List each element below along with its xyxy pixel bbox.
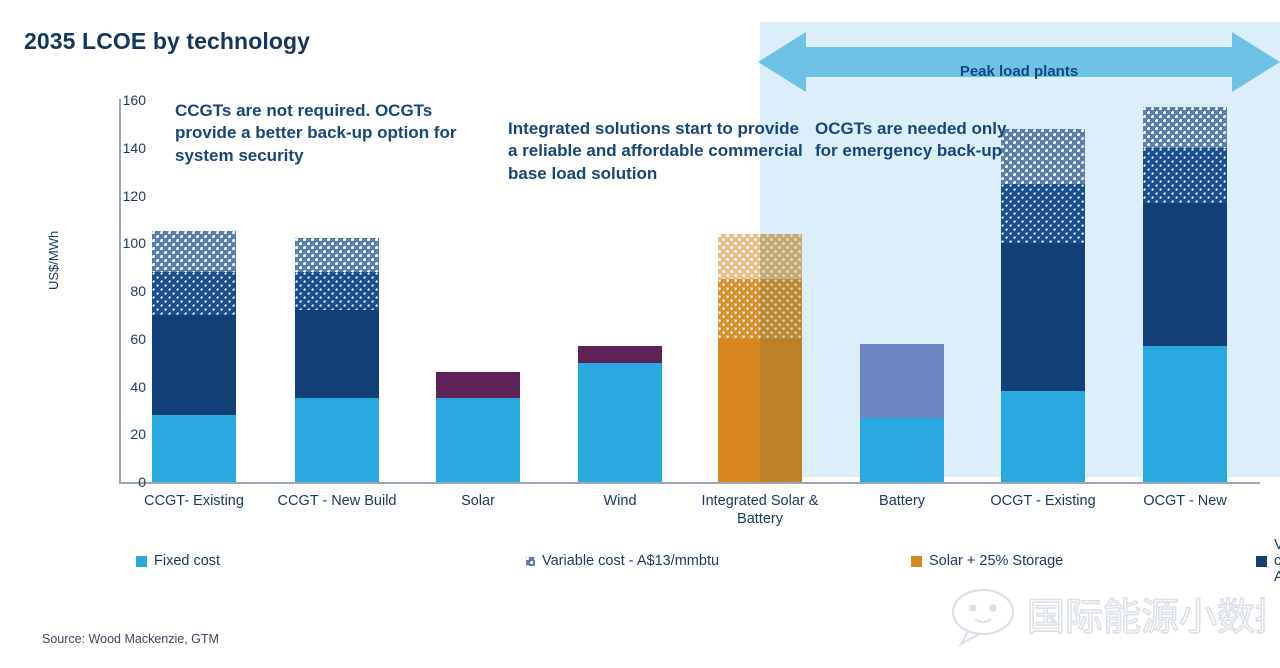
bar-segment <box>718 339 802 482</box>
bar-segment-shading <box>760 339 802 482</box>
x-category-label: Solar <box>403 492 553 510</box>
legend-label: Variable cost - A$7/mmbtu <box>1274 537 1280 585</box>
x-category-label: CCGT- Existing <box>119 492 269 510</box>
legend-label: Variable cost - A$13/mmbtu <box>542 553 719 569</box>
bar-segment <box>718 279 802 339</box>
annotation-ocgt: OCGTs are needed only for emergency back… <box>815 118 1025 163</box>
bar-segment <box>1001 243 1085 391</box>
stacked-bar[interactable] <box>152 231 236 482</box>
annotation-integrated: Integrated solutions start to provide a … <box>508 118 808 185</box>
watermark-logo: 国际能源小数据 <box>935 578 1265 648</box>
bar-segment <box>1001 184 1085 244</box>
bar-segment <box>436 398 520 482</box>
legend-swatch-icon <box>911 556 922 567</box>
bar-segment <box>718 234 802 279</box>
bar-segment <box>860 418 944 482</box>
bar-segment <box>578 346 662 363</box>
source-note: Source: Wood Mackenzie, GTM <box>42 632 219 646</box>
bar-segment <box>578 363 662 482</box>
bar-segment <box>295 272 379 310</box>
stacked-bar[interactable] <box>436 372 520 482</box>
legend-swatch-icon <box>136 556 147 567</box>
bar-segment <box>152 315 236 415</box>
legend-item[interactable]: Fixed cost <box>136 548 526 574</box>
x-category-label: Wind <box>545 492 695 510</box>
legend-item[interactable]: Variable cost - A$7/mmbtu <box>1256 548 1280 574</box>
bar-segment <box>1143 203 1227 346</box>
bar-segment <box>295 238 379 271</box>
legend-label: Fixed cost <box>154 553 220 569</box>
legend-item[interactable]: Solar + 25% Storage <box>911 548 1256 574</box>
x-category-label: OCGT - New <box>1110 492 1260 510</box>
bar-segment <box>1001 391 1085 482</box>
bar-segment <box>152 272 236 315</box>
double-headed-arrow-icon <box>758 28 1280 96</box>
stacked-bar[interactable] <box>718 234 802 482</box>
stacked-bar[interactable] <box>860 344 944 482</box>
bar-segment <box>152 415 236 482</box>
bar-segment <box>1143 107 1227 148</box>
x-axis-line <box>119 482 1260 484</box>
legend-item[interactable]: Variable cost - A$13/mmbtu <box>526 548 911 574</box>
legend-label: Solar + 25% Storage <box>929 553 1063 569</box>
bar-segment <box>1143 148 1227 203</box>
x-category-label: Integrated Solar & Battery <box>685 492 835 528</box>
bar-segment <box>295 398 379 482</box>
bar-segment <box>152 231 236 272</box>
x-category-label: OCGT - Existing <box>968 492 1118 510</box>
peak-load-plants-label: Peak load plants <box>758 63 1280 80</box>
x-category-label: CCGT - New Build <box>262 492 412 510</box>
bar-segment <box>436 372 520 398</box>
bar-segment <box>295 310 379 398</box>
bar-segment-shading <box>760 234 802 279</box>
bar-column[interactable] <box>1143 100 1227 482</box>
chart-legend: Fixed costVariable cost - A$13/mmbtuSola… <box>136 548 1256 574</box>
stacked-bar[interactable] <box>1143 107 1227 482</box>
y-axis-title: US$/MWh <box>46 231 61 290</box>
svg-text:国际能源小数据: 国际能源小数据 <box>1027 595 1265 639</box>
bar-segment-shading <box>760 279 802 339</box>
bar-segment <box>1143 346 1227 482</box>
legend-swatch-icon <box>1256 556 1267 567</box>
chart-title: 2035 LCOE by technology <box>24 28 310 55</box>
annotation-ccgt: CCGTs are not required. OCGTs provide a … <box>175 100 465 167</box>
stacked-bar[interactable] <box>578 346 662 482</box>
stacked-bar[interactable] <box>295 238 379 482</box>
legend-swatch-icon <box>526 557 535 566</box>
bar-segment <box>860 344 944 418</box>
x-category-label: Battery <box>827 492 977 510</box>
stacked-bar[interactable] <box>1001 129 1085 482</box>
